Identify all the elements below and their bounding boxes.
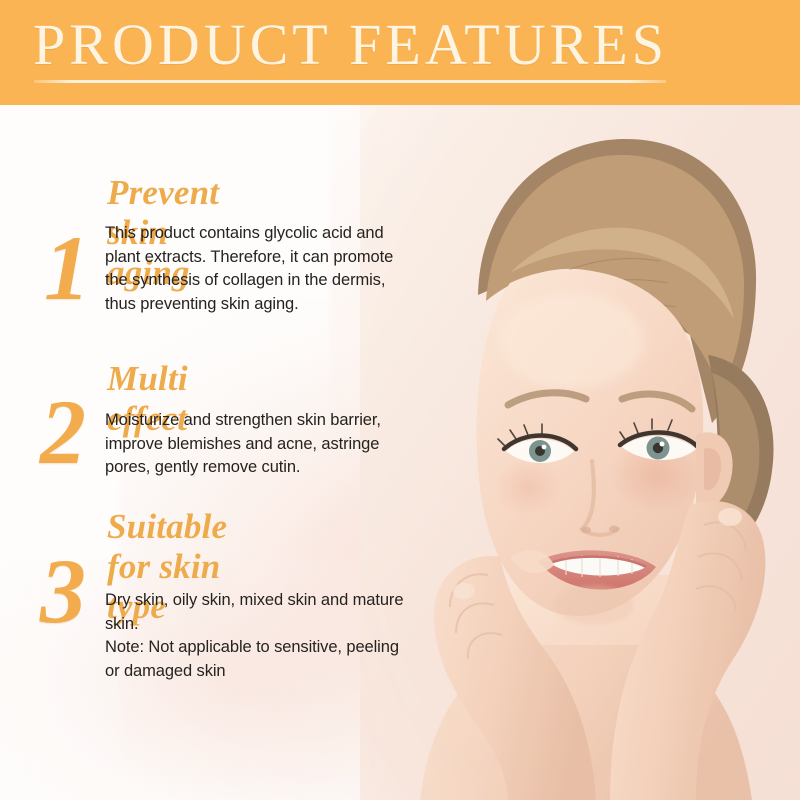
feature-body-2: Moisturize and strengthen skin barrier, … — [105, 409, 405, 480]
product-features-poster: PRODUCT FEATURES 1 Prevent skin aging Th… — [0, 0, 800, 800]
model-photo — [360, 105, 800, 800]
feature-body-3: Dry skin, oily skin, mixed skin and matu… — [105, 589, 405, 683]
header-banner: PRODUCT FEATURES — [0, 0, 800, 105]
model-photo-illustration — [360, 105, 800, 800]
page-title: PRODUCT FEATURES — [33, 13, 733, 77]
feature-number-2: 2 — [18, 386, 108, 478]
feature-number-3: 3 — [18, 545, 108, 637]
header-underline — [34, 80, 666, 83]
feature-number-1: 1 — [22, 222, 112, 314]
feature-body-1: This product contains glycolic acid and … — [105, 222, 405, 316]
